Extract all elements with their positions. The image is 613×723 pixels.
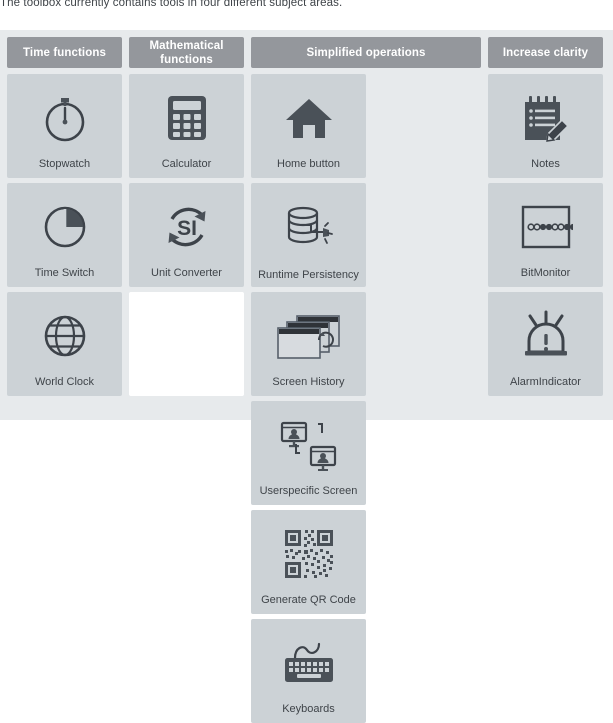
- tile-calculator[interactable]: Calculator: [129, 74, 244, 178]
- column-simplified-operations: Simplified operations Home button: [251, 37, 481, 723]
- tile-time-switch[interactable]: Time Switch: [7, 183, 122, 287]
- tile-empty-slot: [129, 292, 244, 396]
- tile-generate-qr-code[interactable]: Generate QR Code: [251, 510, 366, 614]
- tile-label: Notes: [488, 158, 603, 179]
- home-icon: [251, 74, 366, 158]
- tile-userspecific-screen[interactable]: Userspecific Screen: [251, 401, 366, 505]
- tile-stopwatch[interactable]: Stopwatch: [7, 74, 122, 178]
- tile-world-clock[interactable]: World Clock: [7, 292, 122, 396]
- tile-notes[interactable]: Notes: [488, 74, 603, 178]
- tile-runtime-persistency[interactable]: Runtime Persistency: [251, 183, 366, 287]
- column-increase-clarity: Increase clarity: [488, 37, 603, 396]
- qr-code-icon: [251, 510, 366, 594]
- column-header-simplified-operations: Simplified operations: [251, 37, 481, 68]
- tile-label: BitMonitor: [488, 267, 603, 288]
- column-header-time-functions: Time functions: [7, 37, 122, 68]
- tile-label: Time Switch: [7, 267, 122, 288]
- time-switch-icon: [7, 183, 122, 267]
- database-plug-icon: [251, 183, 366, 269]
- toolbox-board: Time functions Stopwatch: [0, 30, 613, 420]
- tile-alarmindicator[interactable]: AlarmIndicator: [488, 292, 603, 396]
- column-mathematical-functions: Mathematical functions: [129, 37, 244, 396]
- tile-label: World Clock: [7, 376, 122, 397]
- empty-icon: [129, 292, 244, 388]
- tile-label: Userspecific Screen: [251, 485, 366, 506]
- tile-label: [129, 388, 244, 396]
- tile-label: Home button: [251, 158, 366, 179]
- world-clock-icon: [7, 292, 122, 376]
- tile-unit-converter[interactable]: SI Unit Converter: [129, 183, 244, 287]
- alarm-beacon-icon: [488, 292, 603, 376]
- svg-text:SI: SI: [177, 217, 197, 240]
- calculator-icon: [129, 74, 244, 158]
- keyboard-icon: [251, 619, 366, 703]
- intro-text: The toolbox currently contains tools in …: [0, 0, 342, 9]
- stopwatch-icon: [7, 74, 122, 158]
- tile-label: Generate QR Code: [251, 594, 366, 615]
- column-header-increase-clarity: Increase clarity: [488, 37, 603, 68]
- tile-grid-simplified-operations: Home button: [251, 74, 481, 723]
- toolbox-columns: Time functions Stopwatch: [7, 37, 603, 723]
- tile-keyboards[interactable]: Keyboards: [251, 619, 366, 723]
- tile-grid-mathematical-functions: Calculator SI Unit Converter: [129, 74, 244, 396]
- tile-grid-increase-clarity: Notes: [488, 74, 603, 396]
- tile-label: Keyboards: [251, 703, 366, 723]
- tile-home-button[interactable]: Home button: [251, 74, 366, 178]
- tile-label: AlarmIndicator: [488, 376, 603, 397]
- column-header-mathematical-functions: Mathematical functions: [129, 37, 244, 68]
- tile-label: Screen History: [251, 376, 366, 397]
- tile-grid-time-functions: Stopwatch Time Switch: [7, 74, 122, 396]
- bit-monitor-icon: [488, 183, 603, 267]
- tile-label: Runtime Persistency: [251, 269, 366, 288]
- userspecific-screen-icon: [251, 401, 366, 485]
- tile-screen-history[interactable]: Screen History: [251, 292, 366, 396]
- column-time-functions: Time functions Stopwatch: [7, 37, 122, 396]
- tile-label: Stopwatch: [7, 158, 122, 179]
- tile-label: Unit Converter: [129, 267, 244, 288]
- tile-bitmonitor[interactable]: BitMonitor: [488, 183, 603, 287]
- screen-history-icon: [251, 292, 366, 376]
- notepad-pencil-icon: [488, 74, 603, 158]
- tile-label: Calculator: [129, 158, 244, 179]
- unit-converter-icon: SI: [129, 183, 244, 267]
